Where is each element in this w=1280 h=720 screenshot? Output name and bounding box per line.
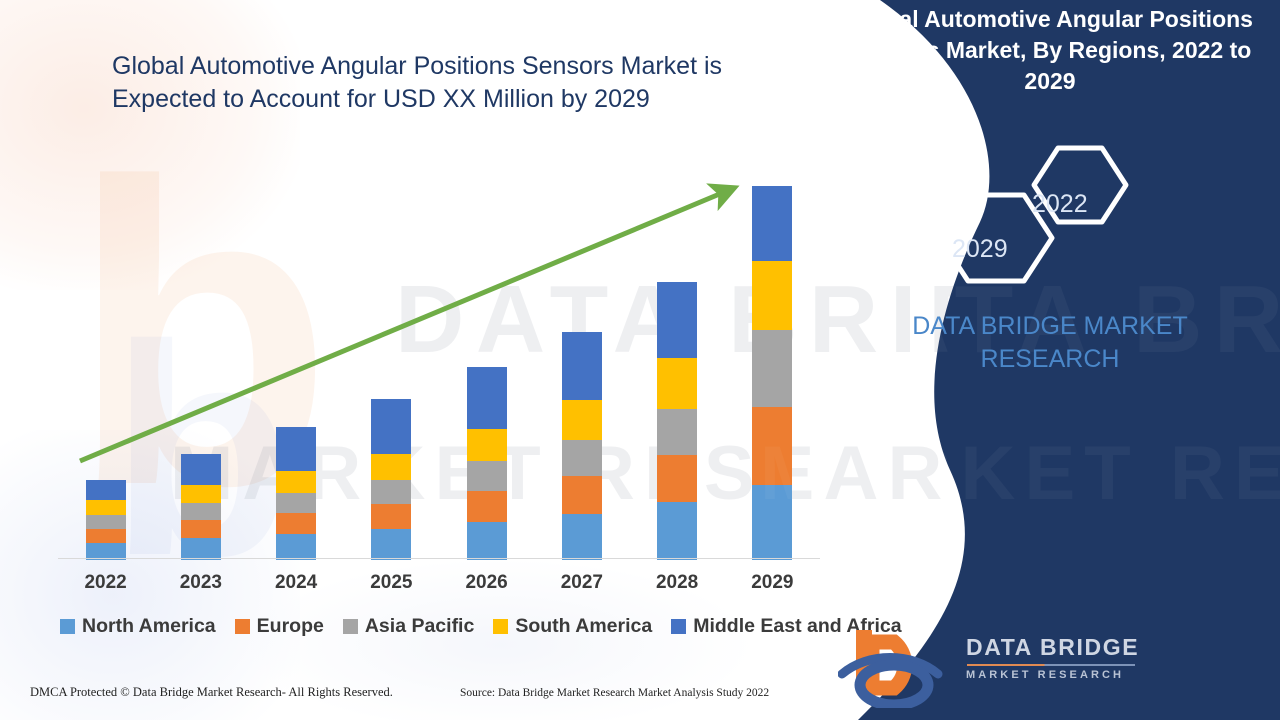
bar-segment[interactable] <box>181 454 221 485</box>
bar-segment[interactable] <box>467 522 507 560</box>
bar-segment[interactable] <box>371 480 411 504</box>
logo-tagline: MARKET RESEARCH <box>966 669 1139 681</box>
bar-segment[interactable] <box>657 409 697 455</box>
bar-2023[interactable] <box>181 454 221 560</box>
bar-segment[interactable] <box>752 261 792 330</box>
bar-2028[interactable] <box>657 282 697 560</box>
x-axis-label-2022: 2022 <box>66 572 146 594</box>
legend-label: South America <box>515 615 652 638</box>
x-axis-label-2028: 2028 <box>637 572 717 594</box>
bar-segment[interactable] <box>467 491 507 522</box>
x-axis-label-2027: 2027 <box>542 572 622 594</box>
right-panel: DATA BRIDGE MARKET RESEARCH Global Autom… <box>820 0 1280 720</box>
bar-segment[interactable] <box>752 186 792 261</box>
bar-segment[interactable] <box>181 520 221 538</box>
logo-name: DATA BRIDGE <box>966 634 1139 661</box>
panel-watermark-secondary: MARKET RESEARCH <box>760 430 1280 517</box>
infographic-canvas: b b DATA BRIDGE MARKET RESEARCH Global A… <box>0 0 1280 720</box>
source-note: Source: Data Bridge Market Research Mark… <box>460 687 769 699</box>
legend-swatch-icon <box>671 619 686 634</box>
legend-swatch-icon <box>343 619 358 634</box>
x-axis-label-2023: 2023 <box>161 572 241 594</box>
bar-2026[interactable] <box>467 367 507 560</box>
bar-segment[interactable] <box>276 427 316 471</box>
bar-segment[interactable] <box>562 514 602 560</box>
copyright-notice: DMCA Protected © Data Bridge Market Rese… <box>30 685 393 700</box>
legend-label: North America <box>82 615 216 638</box>
logo-wordmark: DATA BRIDGE MARKET RESEARCH <box>966 634 1139 681</box>
stacked-bar-chart: 20222023202420252026202720282029 <box>0 0 860 720</box>
bar-segment[interactable] <box>86 515 126 529</box>
legend-label: Europe <box>257 615 324 638</box>
bar-segment[interactable] <box>86 500 126 515</box>
legend-swatch-icon <box>235 619 250 634</box>
bar-segment[interactable] <box>657 502 697 560</box>
bar-2024[interactable] <box>276 427 316 560</box>
bar-segment[interactable] <box>371 504 411 529</box>
legend-item[interactable]: Asia Pacific <box>343 615 474 638</box>
bar-2022[interactable] <box>86 480 126 560</box>
chart-plot-area <box>58 160 820 560</box>
bar-segment[interactable] <box>276 513 316 534</box>
bar-segment[interactable] <box>86 529 126 543</box>
panel-title: Global Automotive Angular Positions Sens… <box>820 4 1280 96</box>
bar-segment[interactable] <box>181 485 221 503</box>
bar-segment[interactable] <box>371 454 411 480</box>
logo-divider <box>967 664 1135 666</box>
legend-item[interactable]: North America <box>60 615 216 638</box>
legend-item[interactable]: South America <box>493 615 652 638</box>
bar-2029[interactable] <box>752 186 792 560</box>
bar-segment[interactable] <box>562 476 602 514</box>
bar-segment[interactable] <box>276 534 316 560</box>
bar-segment[interactable] <box>752 485 792 560</box>
bar-segment[interactable] <box>371 399 411 454</box>
bar-segment[interactable] <box>657 282 697 358</box>
chart-legend: North AmericaEuropeAsia PacificSouth Ame… <box>60 615 902 638</box>
bar-segment[interactable] <box>562 400 602 440</box>
hexagon-label-far: 2022 <box>1032 190 1088 219</box>
bar-segment[interactable] <box>276 493 316 513</box>
x-axis-tick-labels: 20222023202420252026202720282029 <box>58 572 820 600</box>
bar-segment[interactable] <box>657 358 697 409</box>
x-axis-label-2025: 2025 <box>351 572 431 594</box>
bar-segment[interactable] <box>276 471 316 493</box>
bar-segment[interactable] <box>752 407 792 485</box>
bar-segment[interactable] <box>371 529 411 560</box>
bar-segment[interactable] <box>181 538 221 560</box>
bar-2025[interactable] <box>371 399 411 560</box>
legend-item[interactable]: Europe <box>235 615 324 638</box>
bar-segment[interactable] <box>86 480 126 500</box>
panel-content: DATA BRIDGE MARKET RESEARCH Global Autom… <box>820 0 1280 720</box>
year-hexagon-badges: 2029 2022 <box>930 140 1160 285</box>
x-axis-line <box>58 558 820 559</box>
bar-segment[interactable] <box>562 440 602 476</box>
x-axis-label-2026: 2026 <box>447 572 527 594</box>
legend-swatch-icon <box>60 619 75 634</box>
x-axis-label-2024: 2024 <box>256 572 336 594</box>
bar-segment[interactable] <box>467 461 507 491</box>
bar-segment[interactable] <box>467 367 507 429</box>
hexagon-label-near: 2029 <box>952 235 1008 264</box>
bar-segment[interactable] <box>181 503 221 520</box>
legend-swatch-icon <box>493 619 508 634</box>
data-bridge-logo-icon <box>838 622 958 708</box>
bar-segment[interactable] <box>467 429 507 461</box>
bar-segment[interactable] <box>562 332 602 400</box>
company-logo: DATA BRIDGE MARKET RESEARCH <box>838 622 1278 708</box>
bar-2027[interactable] <box>562 332 602 560</box>
bar-segment[interactable] <box>657 455 697 502</box>
x-axis-label-2029: 2029 <box>732 572 812 594</box>
legend-label: Asia Pacific <box>365 615 474 638</box>
bar-segment[interactable] <box>752 330 792 407</box>
brand-name: DATA BRIDGE MARKET RESEARCH <box>820 310 1280 375</box>
